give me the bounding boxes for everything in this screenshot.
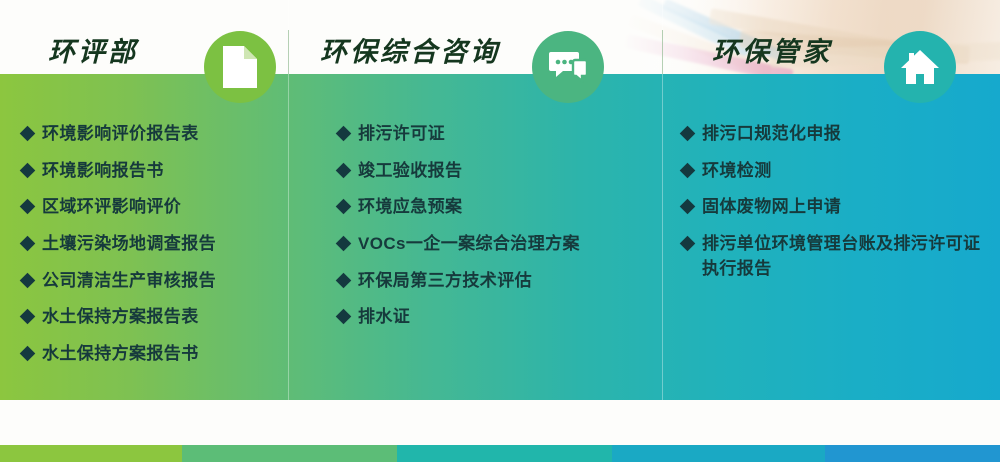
diamond-bullet-icon: [680, 236, 696, 252]
list-item: 环境应急预案: [338, 195, 648, 220]
list-item-label: 排水证: [358, 305, 648, 330]
bottom-bar-segment: [397, 445, 612, 462]
list-item: 排水证: [338, 305, 648, 330]
list-item: 环保局第三方技术评估: [338, 269, 648, 294]
white-band: [0, 400, 1000, 445]
diamond-bullet-icon: [20, 162, 36, 178]
list-item-label: 环境影响评价报告表: [42, 122, 272, 147]
list-item: 环境检测: [682, 159, 982, 184]
column-title: 环保综合咨询: [320, 30, 500, 69]
list-item-label: 环境影响报告书: [42, 159, 272, 184]
diamond-bullet-icon: [680, 162, 696, 178]
list-item-label: VOCs一企一案综合治理方案: [358, 232, 648, 257]
diamond-bullet-icon: [20, 309, 36, 325]
list-item: 环境影响评价报告表: [22, 122, 272, 147]
diamond-bullet-icon: [336, 272, 352, 288]
chat-bubbles-icon: [549, 50, 587, 84]
diamond-bullet-icon: [336, 309, 352, 325]
service-list: 排污许可证 竣工验收报告 环境应急预案 VOCs一企一案综合治理方案 环保局第三…: [338, 122, 648, 342]
column-title: 环评部: [48, 30, 138, 69]
bottom-bar-segment: [182, 445, 397, 462]
list-item-label: 水土保持方案报告表: [42, 305, 272, 330]
service-list: 环境影响评价报告表 环境影响报告书 区域环评影响评价 土壤污染场地调查报告 公司…: [22, 122, 272, 378]
list-item: 水土保持方案报告书: [22, 342, 272, 367]
columns-container: 环评部 环境影响评价报告表 环境影响报告书 区域环评影响评价: [0, 0, 1000, 400]
list-item: VOCs一企一案综合治理方案: [338, 232, 648, 257]
bottom-color-bar: [0, 445, 1000, 462]
list-item: 排污口规范化申报: [682, 122, 982, 147]
diamond-bullet-icon: [20, 236, 36, 252]
diamond-bullet-icon: [336, 162, 352, 178]
list-item-label: 固体废物网上申请: [702, 195, 982, 220]
bottom-bar-segment: [825, 445, 1000, 462]
list-item: 环境影响报告书: [22, 159, 272, 184]
list-item-label: 环境检测: [702, 159, 982, 184]
column-env-steward: 环保管家 排污口规范化申报 环境检测 固体废物网上申请: [662, 0, 1000, 400]
diamond-bullet-icon: [680, 199, 696, 215]
diamond-bullet-icon: [20, 346, 36, 362]
bottom-bar-segment: [0, 445, 182, 462]
diamond-bullet-icon: [336, 199, 352, 215]
list-item-label: 水土保持方案报告书: [42, 342, 272, 367]
list-item: 排污单位环境管理台账及排污许可证执行报告: [682, 232, 982, 281]
list-item-label: 排污许可证: [358, 122, 648, 147]
house-icon-badge: [884, 31, 956, 103]
column-env-consulting: 环保综合咨询 排污许可证 竣工验收报告: [288, 0, 662, 400]
list-item: 土壤污染场地调查报告: [22, 232, 272, 257]
diamond-bullet-icon: [680, 126, 696, 142]
list-item-label: 竣工验收报告: [358, 159, 648, 184]
document-icon-badge: [204, 31, 276, 103]
list-item-label: 环境应急预案: [358, 195, 648, 220]
column-env-assessment: 环评部 环境影响评价报告表 环境影响报告书 区域环评影响评价: [0, 0, 288, 400]
service-list: 排污口规范化申报 环境检测 固体废物网上申请 排污单位环境管理台账及排污许可证执…: [682, 122, 982, 293]
diamond-bullet-icon: [20, 199, 36, 215]
list-item-label: 排污单位环境管理台账及排污许可证执行报告: [702, 232, 982, 281]
list-item: 竣工验收报告: [338, 159, 648, 184]
diamond-bullet-icon: [20, 272, 36, 288]
diamond-bullet-icon: [336, 236, 352, 252]
list-item: 水土保持方案报告表: [22, 305, 272, 330]
diamond-bullet-icon: [20, 126, 36, 142]
list-item: 固体废物网上申请: [682, 195, 982, 220]
list-item: 排污许可证: [338, 122, 648, 147]
diamond-bullet-icon: [336, 126, 352, 142]
document-icon: [223, 46, 257, 88]
list-item-label: 公司清洁生产审核报告: [42, 269, 272, 294]
list-item-label: 排污口规范化申报: [702, 122, 982, 147]
list-item-label: 土壤污染场地调查报告: [42, 232, 272, 257]
poster-root: 环评部 环境影响评价报告表 环境影响报告书 区域环评影响评价: [0, 0, 1000, 462]
list-item: 公司清洁生产审核报告: [22, 269, 272, 294]
list-item: 区域环评影响评价: [22, 195, 272, 220]
list-item-label: 环保局第三方技术评估: [358, 269, 648, 294]
list-item-label: 区域环评影响评价: [42, 195, 272, 220]
chat-bubbles-icon-badge: [532, 31, 604, 103]
column-title: 环保管家: [712, 30, 832, 69]
bottom-bar-segment: [612, 445, 825, 462]
house-icon: [900, 48, 940, 86]
